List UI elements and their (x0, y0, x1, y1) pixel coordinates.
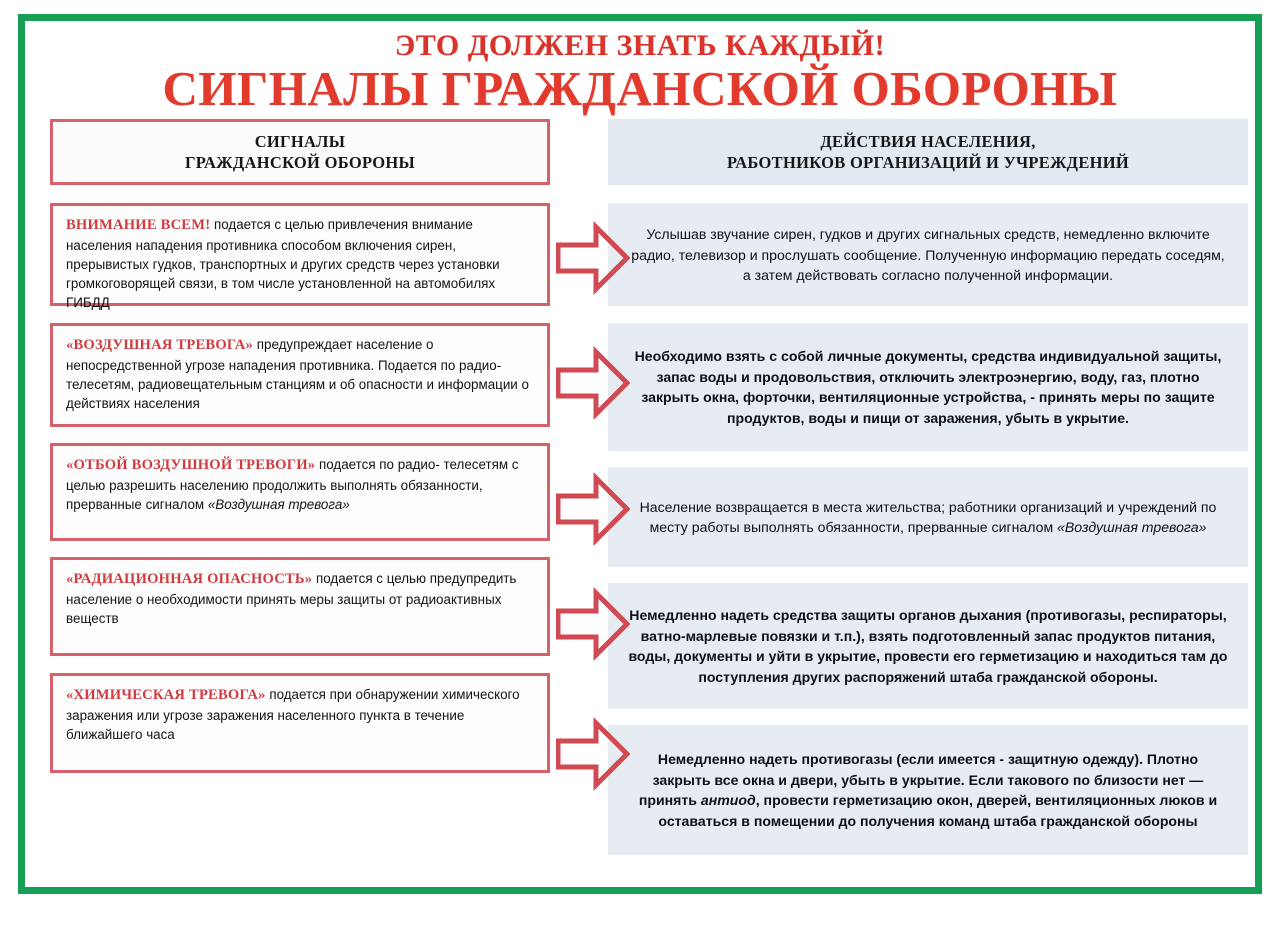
actions-header-line2: РАБОТНИКОВ ОРГАНИЗАЦИЙ И УЧРЕЖДЕНИЙ (727, 153, 1129, 172)
poster-content: ЭТО ДОЛЖЕН ЗНАТЬ КАЖДЫЙ! СИГНАЛЫ ГРАЖДАН… (18, 14, 1262, 894)
actions-column-header: ДЕЙСТВИЯ НАСЕЛЕНИЯ, РАБОТНИКОВ ОРГАНИЗАЦ… (608, 119, 1248, 185)
signal-box-2: «ВОЗДУШНАЯ ТРЕВОГА» предупреждает населе… (50, 323, 550, 427)
signals-column: СИГНАЛЫ ГРАЖДАНСКОЙ ОБОРОНЫ ВНИМАНИЕ ВСЕ… (50, 119, 550, 773)
signals-header-line1: СИГНАЛЫ (255, 132, 346, 151)
signal-box-5: «ХИМИЧЕСКАЯ ТРЕВОГА» подается при обнару… (50, 673, 550, 773)
civil-defense-poster: ЭТО ДОЛЖЕН ЗНАТЬ КАЖДЫЙ! СИГНАЛЫ ГРАЖДАН… (0, 0, 1280, 930)
actions-column: ДЕЙСТВИЯ НАСЕЛЕНИЯ, РАБОТНИКОВ ОРГАНИЗАЦ… (608, 119, 1248, 855)
signal-term-4: «РАДИАЦИОННАЯ ОПАСНОСТЬ» (66, 571, 312, 587)
arrow-icon-4 (556, 585, 630, 663)
signal-term-3: «ОТБОЙ ВОЗДУШНОЙ ТРЕВОГИ» (66, 457, 315, 473)
action-box-5: Немедленно надеть противогазы (если имее… (608, 725, 1248, 855)
arrow-icon-3 (556, 470, 630, 548)
action-text-3: Население возвращается в места жительств… (628, 497, 1228, 539)
signal-italic-3: «Воздушная тревога» (208, 497, 350, 512)
signal-term-2: «ВОЗДУШНАЯ ТРЕВОГА» (66, 337, 253, 353)
action-box-2: Необходимо взять с собой личные документ… (608, 323, 1248, 451)
arrow-icon-1 (556, 219, 630, 297)
action-box-4: Немедленно надеть средства защиты органо… (608, 583, 1248, 709)
action-italic-3: «Воздушная тревога» (1057, 519, 1206, 535)
action-text-2: Необходимо взять с собой личные документ… (628, 346, 1228, 429)
signal-box-3: «ОТБОЙ ВОЗДУШНОЙ ТРЕВОГИ» подается по ра… (50, 443, 550, 541)
action-box-3: Население возвращается в места жительств… (608, 467, 1248, 567)
action-emphasis-5: антиод (701, 792, 756, 808)
action-box-1: Услышав звучание сирен, гудков и других … (608, 203, 1248, 306)
signal-box-1: ВНИМАНИЕ ВСЕМ! подается с целью привлече… (50, 203, 550, 306)
action-text-4: Немедленно надеть средства защиты органо… (628, 605, 1228, 688)
signal-term-1: ВНИМАНИЕ ВСЕМ! (66, 217, 210, 233)
action-text-1: Услышав звучание сирен, гудков и других … (628, 224, 1228, 287)
poster-subtitle: ЭТО ДОЛЖЕН ЗНАТЬ КАЖДЫЙ! (32, 30, 1248, 62)
action-text-5: Немедленно надеть противогазы (если имее… (628, 749, 1228, 832)
signals-header-line2: ГРАЖДАНСКОЙ ОБОРОНЫ (185, 153, 415, 172)
poster-title: СИГНАЛЫ ГРАЖДАНСКОЙ ОБОРОНЫ (32, 64, 1248, 114)
arrow-icon-5 (556, 715, 630, 793)
signals-column-header: СИГНАЛЫ ГРАЖДАНСКОЙ ОБОРОНЫ (50, 119, 550, 185)
arrow-icon-2 (556, 344, 630, 422)
actions-header-line1: ДЕЙСТВИЯ НАСЕЛЕНИЯ, (820, 132, 1035, 151)
signal-box-4: «РАДИАЦИОННАЯ ОПАСНОСТЬ» подается с цель… (50, 557, 550, 656)
signal-term-5: «ХИМИЧЕСКАЯ ТРЕВОГА» (66, 687, 266, 703)
